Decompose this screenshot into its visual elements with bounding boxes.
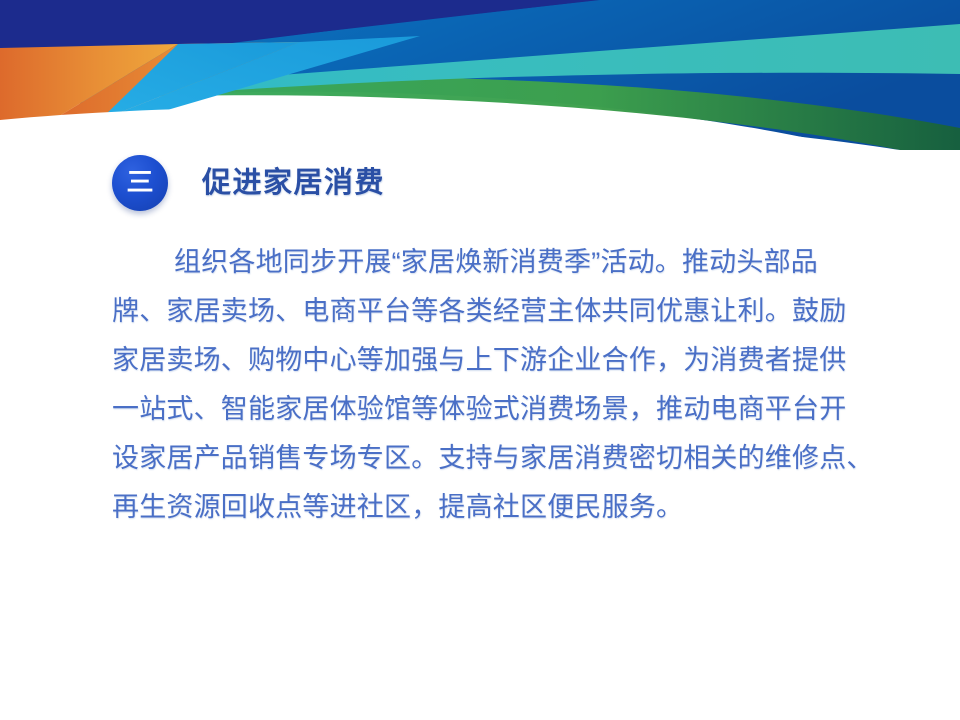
banner-sky-wedge2 xyxy=(100,36,420,120)
body-paragraph: 组织各地同步开展“家居焕新消费季”活动。推动头部品 牌、家居卖场、电商平台等各类… xyxy=(112,238,874,532)
body-line: 一站式、智能家居体验馆等体验式消费场景，推动电商平台开 xyxy=(112,385,874,434)
body-line: 组织各地同步开展“家居焕新消费季”活动。推动头部品 xyxy=(112,238,874,287)
banner-sky-guide xyxy=(56,44,178,120)
body-line: 设家居产品销售专场专区。支持与家居消费密切相关的维修点、 xyxy=(112,434,874,483)
badge-glyph: 三 xyxy=(126,170,153,196)
body-line: 再生资源回收点等进社区，提高社区便民服务。 xyxy=(112,483,874,532)
banner-orange-guide3 xyxy=(0,44,175,50)
banner-white-curve xyxy=(0,107,960,150)
banner-orange-band xyxy=(0,44,178,122)
banner-green-sliver xyxy=(0,77,960,150)
slide-canvas: 三 促进家居消费 组织各地同步开展“家居焕新消费季”活动。推动头部品 牌、家居卖… xyxy=(0,0,960,720)
page-title: 促进家居消费 xyxy=(202,169,385,198)
banner-navy-spacer xyxy=(0,0,600,118)
banner-navy-main xyxy=(0,0,598,62)
banner-sky-wedge xyxy=(100,42,300,120)
title-row: 三 促进家居消费 xyxy=(112,152,385,214)
banner-orange-guide xyxy=(0,44,178,50)
banner-navy-block xyxy=(0,0,600,52)
body-line: 家居卖场、购物中心等加强与上下游企业合作，为消费者提供 xyxy=(112,336,874,385)
banner-navy-extension xyxy=(0,0,575,50)
body-line: 牌、家居卖场、电商平台等各类经营主体共同优惠让利。鼓励 xyxy=(112,287,874,336)
number-three-badge-icon: 三 xyxy=(112,155,168,211)
banner-navy-block-overlay xyxy=(0,0,560,50)
banner-orange-guide2 xyxy=(0,46,176,50)
banner-blue-field xyxy=(0,0,960,150)
banner-sky-guide2 xyxy=(56,42,300,120)
banner-white-curve-lower xyxy=(0,112,960,150)
decorative-header-banner xyxy=(0,0,960,150)
banner-orange-wedge xyxy=(56,42,300,120)
banner-teal-wedge xyxy=(0,24,960,110)
